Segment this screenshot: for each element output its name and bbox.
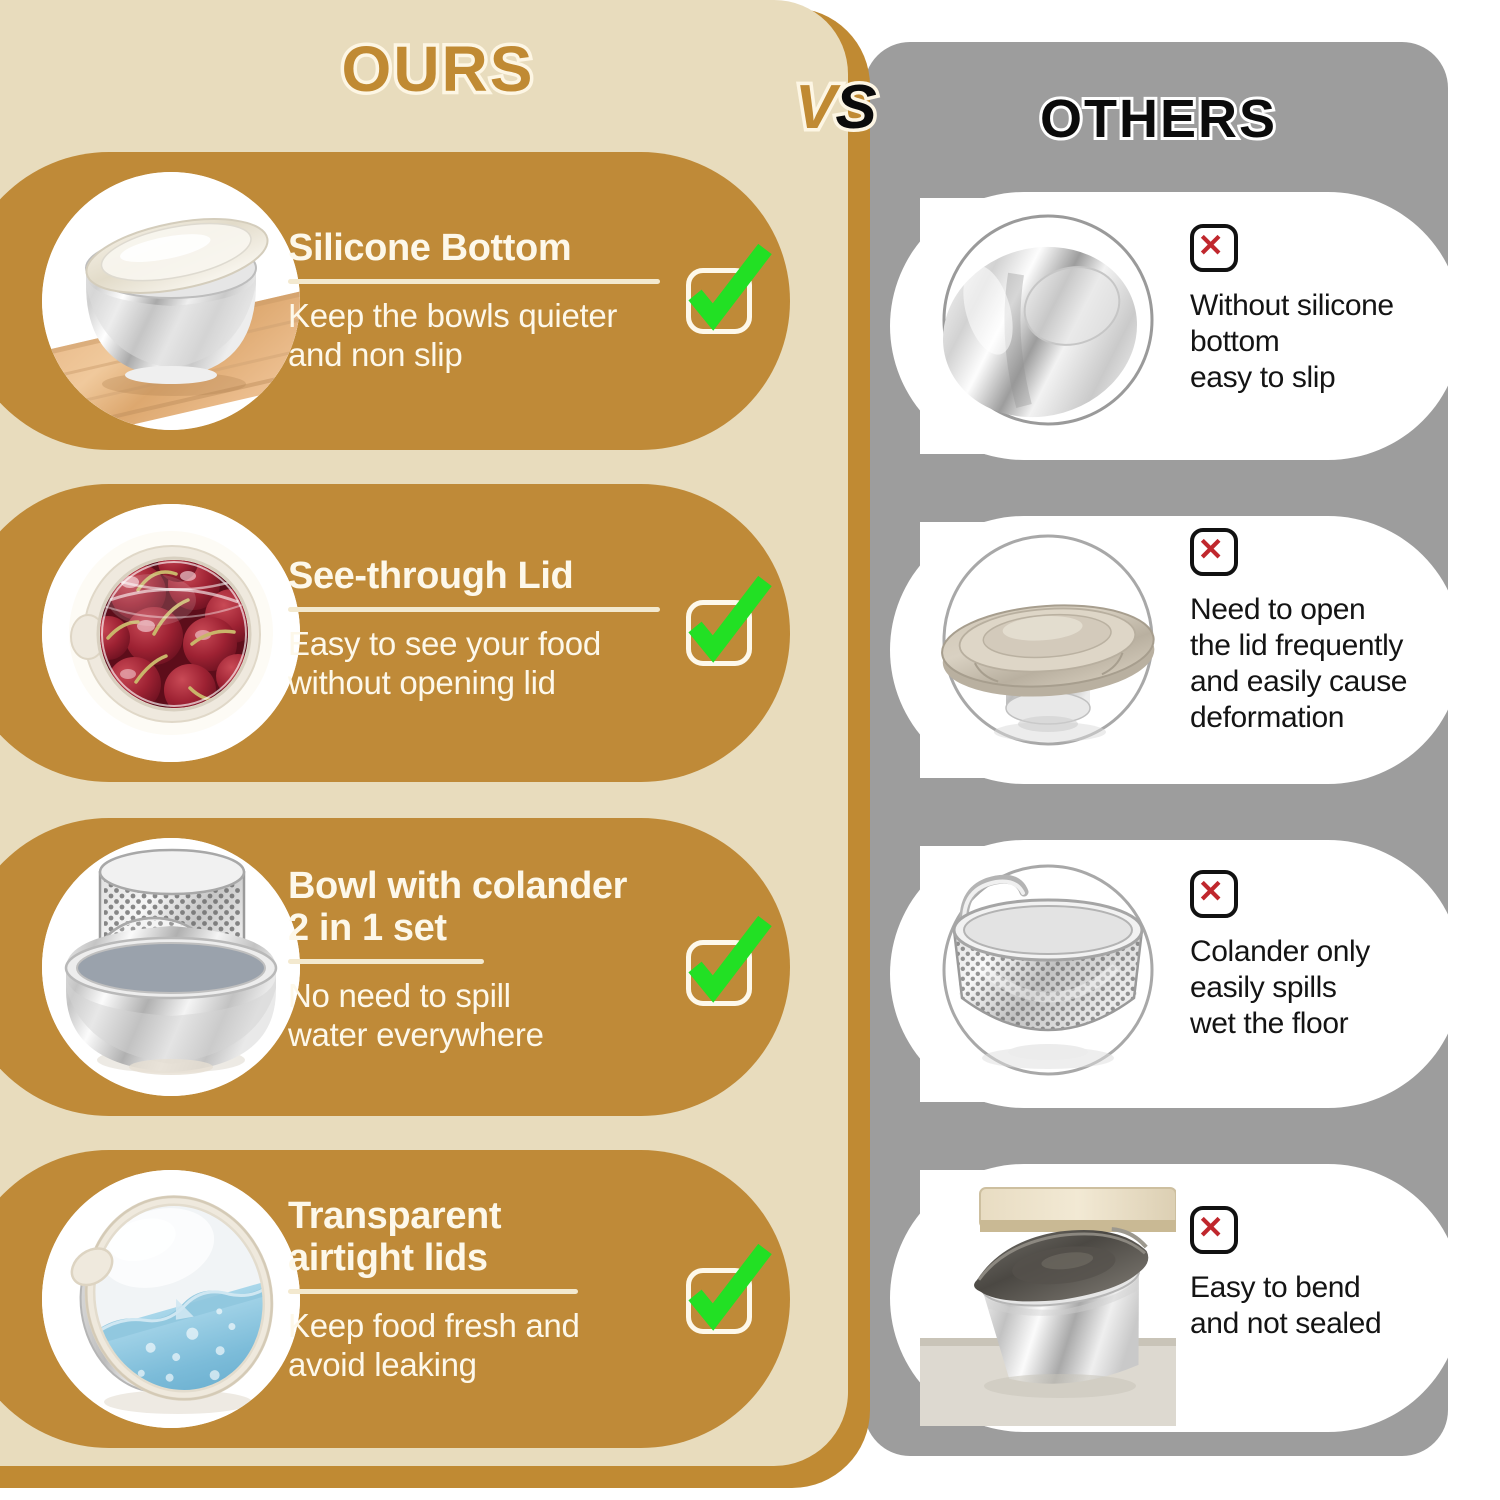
ours-feature-text: Silicone Bottom Keep the bowls quieter a… — [288, 228, 688, 375]
steel-bowl-with-lid-on-wood-board-photo — [42, 172, 300, 430]
check-icon — [686, 600, 752, 666]
ours-feature-card: See-through Lid Easy to see your food wi… — [0, 484, 790, 782]
upside-down-steel-bowl-photo — [920, 198, 1176, 454]
title-underline — [288, 1289, 578, 1294]
ours-feature-title: Transparent airtight lids — [288, 1196, 688, 1280]
drawback-description: Colander only easily spills wet the floo… — [1190, 934, 1448, 1042]
airtight-lid-with-water-photo — [42, 1170, 300, 1428]
others-drawback-card: Need to open the lid frequently and easi… — [890, 516, 1462, 784]
drawback-description: Without silicone bottom easy to slip — [1190, 288, 1448, 396]
check-icon — [686, 1268, 752, 1334]
ours-feature-text: Transparent airtight lids Keep food fres… — [288, 1196, 688, 1384]
ours-feature-title: Silicone Bottom — [288, 228, 688, 270]
others-drawback-text: Without silicone bottom easy to slip — [1190, 224, 1448, 396]
bent-unsealed-lid-pot-photo — [920, 1170, 1176, 1426]
title-underline — [288, 607, 660, 612]
ours-feature-title: Bowl with colander 2 in 1 set — [288, 866, 688, 950]
drawback-description: Need to open the lid frequently and easi… — [1190, 592, 1448, 736]
plain-opaque-lid-photo — [920, 522, 1176, 778]
others-heading: OTHERS — [1040, 88, 1277, 150]
others-drawback-card: Colander only easily spills wet the floo… — [890, 840, 1462, 1108]
others-drawback-text: Colander only easily spills wet the floo… — [1190, 870, 1448, 1042]
ours-feature-text: See-through Lid Easy to see your food wi… — [288, 556, 688, 703]
cherries-under-clear-lid-photo — [42, 504, 300, 762]
ours-feature-card: Silicone Bottom Keep the bowls quieter a… — [0, 152, 790, 450]
ours-feature-card: Transparent airtight lids Keep food fres… — [0, 1150, 790, 1448]
cross-icon — [1190, 870, 1238, 918]
cross-icon — [1190, 528, 1238, 576]
check-icon — [686, 268, 752, 334]
cross-icon — [1190, 224, 1238, 272]
drawback-description: Easy to bend and not sealed — [1190, 1270, 1448, 1342]
vs-letter-s: S — [835, 73, 875, 142]
ours-feature-card: Bowl with colander 2 in 1 set No need to… — [0, 818, 790, 1116]
title-underline — [288, 279, 660, 284]
others-drawback-card: Easy to bend and not sealed — [890, 1164, 1462, 1432]
ours-feature-desc: No need to spill water everywhere — [288, 977, 688, 1055]
vs-badge: VS — [795, 72, 876, 143]
bowl-with-colander-nested-photo — [42, 838, 300, 1096]
vs-letter-v: V — [795, 73, 835, 142]
title-underline — [288, 959, 484, 964]
check-icon — [686, 940, 752, 1006]
ours-heading: OURS — [318, 32, 558, 106]
standalone-colander-photo — [920, 846, 1176, 1102]
ours-feature-title: See-through Lid — [288, 556, 688, 598]
cross-icon — [1190, 1206, 1238, 1254]
others-drawback-text: Easy to bend and not sealed — [1190, 1206, 1448, 1342]
others-drawback-card: Without silicone bottom easy to slip — [890, 192, 1462, 460]
ours-feature-text: Bowl with colander 2 in 1 set No need to… — [288, 866, 688, 1054]
others-drawback-text: Need to open the lid frequently and easi… — [1190, 528, 1448, 736]
comparison-infographic: OURS VS OTHERS — [0, 0, 1500, 1500]
ours-feature-desc: Keep the bowls quieter and non slip — [288, 297, 688, 375]
ours-feature-desc: Easy to see your food without opening li… — [288, 625, 688, 703]
ours-feature-desc: Keep food fresh and avoid leaking — [288, 1307, 688, 1385]
